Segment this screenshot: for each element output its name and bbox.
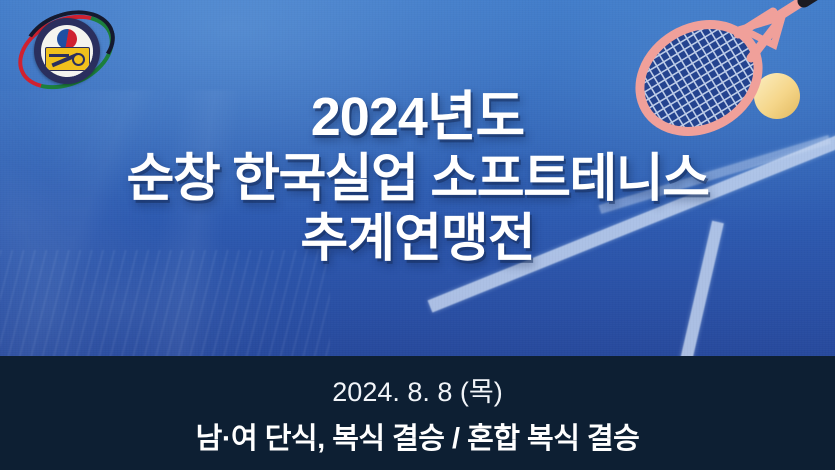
tournament-poster: KOREA BUSINESS SOFT TENNIS FEDERATION 20…: [0, 0, 835, 470]
event-date: 2024. 8. 8 (목): [332, 370, 502, 409]
federation-logo: KOREA BUSINESS SOFT TENNIS FEDERATION: [12, 8, 120, 96]
event-schedule: 남·여 단식, 복식 결승 / 혼합 복식 결승: [196, 415, 640, 457]
logo-disc: KOREA BUSINESS SOFT TENNIS FEDERATION: [34, 18, 100, 84]
title-line-year: 2024년도: [0, 86, 835, 149]
logo-ball-icon: [72, 53, 85, 66]
logo-bar-icon: [49, 54, 69, 57]
poster-title: 2024년도 순창 한국실업 소프트테니스 추계연맹전: [0, 86, 835, 269]
title-line-event: 순창 한국실업 소프트테니스: [0, 149, 835, 209]
poster-footer: 2024. 8. 8 (목) 남·여 단식, 복식 결승 / 혼합 복식 결승: [0, 356, 835, 470]
title-line-name: 추계연맹전: [0, 209, 835, 269]
logo-inner-disc: [41, 25, 93, 77]
logo-yellow-plate: [45, 47, 90, 71]
